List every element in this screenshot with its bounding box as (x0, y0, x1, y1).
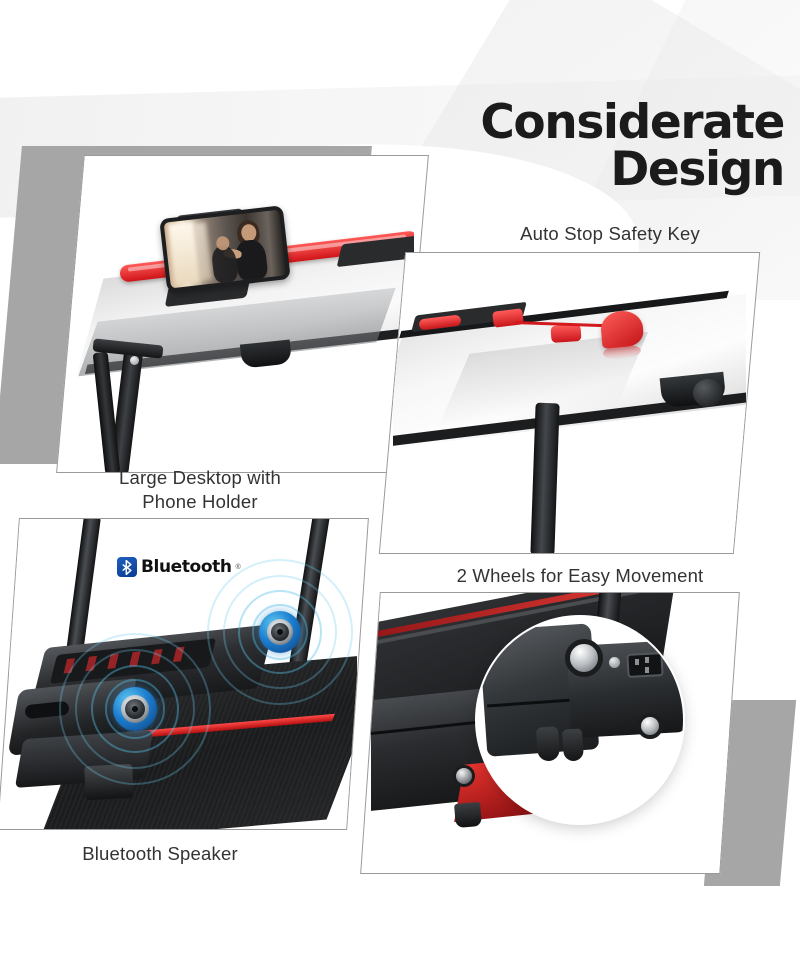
bluetooth-icon (117, 557, 137, 577)
caption-bluetooth-speaker: Bluetooth Speaker (10, 842, 310, 866)
magnifier-bracket-claw-right (562, 728, 584, 761)
panel-large-desktop (56, 155, 429, 473)
speaker-right (205, 557, 355, 707)
wheel-closeup-magnifier (477, 617, 683, 823)
magnifier-power-socket (626, 652, 663, 678)
speaker-left-center (132, 706, 138, 712)
magnifier-socket-pin (635, 659, 639, 665)
desk-underside-roller (240, 339, 292, 368)
panel-auto-stop-safety-key (379, 252, 760, 554)
page-title-line1: Considerate (364, 100, 784, 147)
caption-auto-stop-safety-key: Auto Stop Safety Key (430, 222, 790, 246)
panel-bluetooth-speaker: Bluetooth ® (0, 518, 369, 830)
speaker-right-center (277, 629, 283, 635)
bluetooth-badge: Bluetooth ® (117, 557, 241, 577)
transport-wheel (693, 379, 723, 407)
safety-key-clip-mid (550, 324, 581, 343)
caption-two-wheels: 2 Wheels for Easy Movement (400, 564, 760, 588)
magnifier-wheel-secondary (637, 713, 663, 739)
panel-auto-stop-art (393, 253, 746, 553)
phone (159, 205, 291, 293)
safety-desk-column (530, 403, 559, 553)
caption-large-desktop: Large Desktop with Phone Holder (40, 466, 360, 515)
closeup-wheel-left (453, 765, 475, 787)
bluetooth-registered-mark: ® (236, 564, 241, 571)
desk-leg-bolt (130, 356, 139, 365)
magnifier-socket-pin (645, 657, 649, 663)
panel-large-desktop-art (71, 156, 414, 472)
magnifier-power-switch (609, 657, 620, 668)
panel-wheel-closeup (360, 592, 740, 874)
panel-wheel-closeup-art (371, 593, 729, 873)
infographic-root: Considerate Design Auto Stop Safety Key (0, 0, 800, 977)
magnifier-bracket-claw-left (536, 726, 560, 761)
screen-figure-torso (234, 239, 268, 282)
panel-bluetooth-art: Bluetooth ® (9, 519, 357, 829)
magnifier-socket-pin (645, 667, 649, 673)
speaker-left (55, 629, 215, 789)
magnifier-wheel (565, 639, 603, 677)
phone-screen (164, 210, 287, 289)
bluetooth-wordmark: Bluetooth (141, 557, 232, 577)
page-title: Considerate Design (364, 100, 784, 193)
closeup-foot-left (454, 802, 482, 828)
